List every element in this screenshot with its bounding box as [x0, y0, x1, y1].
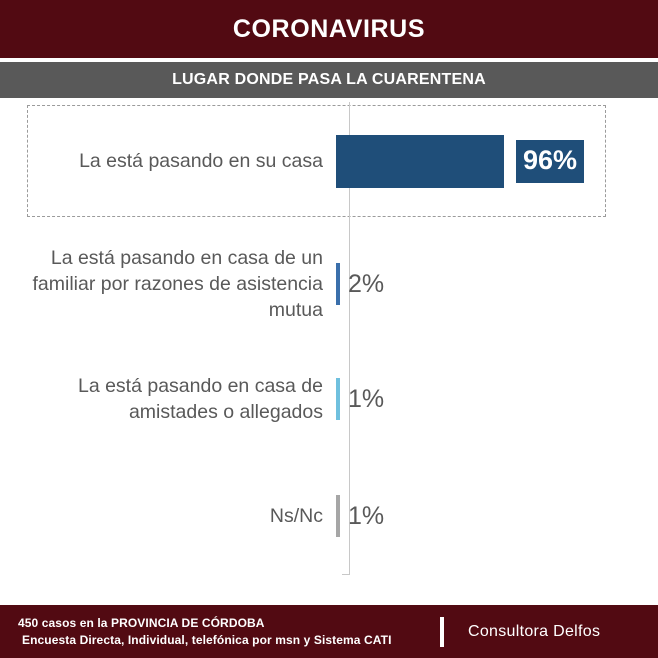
value-label: 1% — [348, 504, 384, 529]
chart-row[interactable]: La está pasando en casa de un familiar p… — [0, 231, 658, 337]
bar-track: 2% — [336, 231, 658, 337]
bar[interactable] — [336, 263, 340, 305]
footer-divider — [440, 617, 444, 647]
chart-row[interactable]: Ns/Nc 1% — [0, 473, 658, 559]
title-band: CORONAVIRUS — [0, 0, 658, 58]
bar[interactable] — [336, 495, 340, 537]
footer-band: 450 casos en la PROVINCIA DE CÓRDOBA Enc… — [0, 605, 658, 658]
value-label: 1% — [348, 387, 384, 412]
bar-track: 1% — [336, 356, 658, 442]
chart-subtitle: LUGAR DONDE PASA LA CUARENTENA — [172, 71, 486, 89]
brand-name: Consultora Delfos — [468, 623, 600, 641]
bar-track: 1% — [336, 473, 658, 559]
chart-row[interactable]: La está pasando en casa de amistades o a… — [0, 356, 658, 442]
value-label: 96% — [516, 140, 584, 183]
chart-area: La está pasando en su casa 96% La está p… — [0, 98, 658, 603]
chart-row[interactable]: La está pasando en su casa 96% — [0, 115, 658, 207]
bar[interactable] — [336, 378, 340, 420]
footer-sample-line: 450 casos en la PROVINCIA DE CÓRDOBA — [18, 616, 440, 630]
bar-track: 96% — [336, 115, 658, 207]
category-label: La está pasando en casa de amistades o a… — [0, 373, 336, 425]
bar[interactable] — [336, 135, 504, 188]
footer-methodology: 450 casos en la PROVINCIA DE CÓRDOBA Enc… — [0, 616, 440, 647]
category-label: La está pasando en casa de un familiar p… — [0, 245, 336, 323]
footer-method-line: Encuesta Directa, Individual, telefónica… — [18, 633, 440, 647]
axis-end-tick — [342, 574, 350, 575]
category-label: La está pasando en su casa — [0, 148, 336, 174]
page-title: CORONAVIRUS — [233, 15, 425, 44]
subtitle-band: LUGAR DONDE PASA LA CUARENTENA — [0, 62, 658, 98]
value-label: 2% — [348, 272, 384, 297]
category-label: Ns/Nc — [0, 503, 336, 529]
